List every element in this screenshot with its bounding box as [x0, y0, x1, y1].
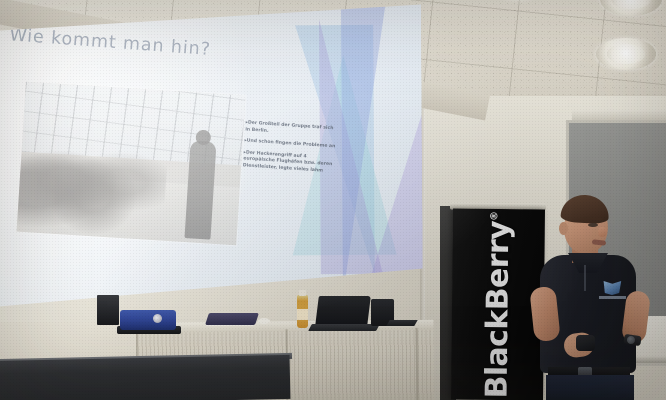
slide-bullet-3: Der Hackerangriff auf 4 europäische Flug… [243, 150, 336, 176]
projector [120, 310, 176, 330]
presenter-ear [559, 222, 568, 235]
laptop-keyboard-base [308, 324, 380, 331]
presenter-polo-placket [584, 265, 586, 291]
second-device-base [386, 320, 417, 326]
presenter-remote-clicker [576, 335, 595, 351]
bottle-label [297, 309, 308, 320]
wristwatch-face-icon [627, 336, 635, 344]
white-disc-object [258, 318, 270, 324]
presenter-hair [560, 194, 609, 224]
projection-screen: Wie kommt man hin? Der Großteil der Grup… [0, 4, 423, 307]
speaker-box [97, 295, 119, 325]
blackberry-wordmark: BlackBerry® [480, 211, 517, 398]
slide-photo-airport [17, 82, 246, 246]
presenter-chest-logo-text [599, 296, 626, 299]
presenter-jeans [546, 375, 634, 400]
slide-bullet-2: Und schon fingen die Probleme an [244, 138, 336, 151]
laptop-screen [315, 296, 371, 326]
slide-bullet-list: Der Großteil der Gruppe traf sich in Ber… [242, 120, 337, 180]
front-desk-top [0, 355, 290, 400]
photo-crowd-silhouettes [17, 121, 170, 242]
presentation-room-photo: Wie kommt man hin? Der Großteil der Grup… [0, 0, 666, 400]
presenter-nose [598, 227, 607, 237]
blackberry-brand-text: BlackBerry [480, 220, 517, 398]
bottle-cap [299, 290, 306, 296]
ceiling-downlight-icon [596, 38, 656, 70]
presenter [528, 195, 648, 400]
tablet-flat [205, 313, 259, 325]
presenter-eye [588, 223, 598, 227]
registered-trademark-icon: ® [489, 211, 500, 221]
projector-lens-icon [153, 314, 162, 323]
